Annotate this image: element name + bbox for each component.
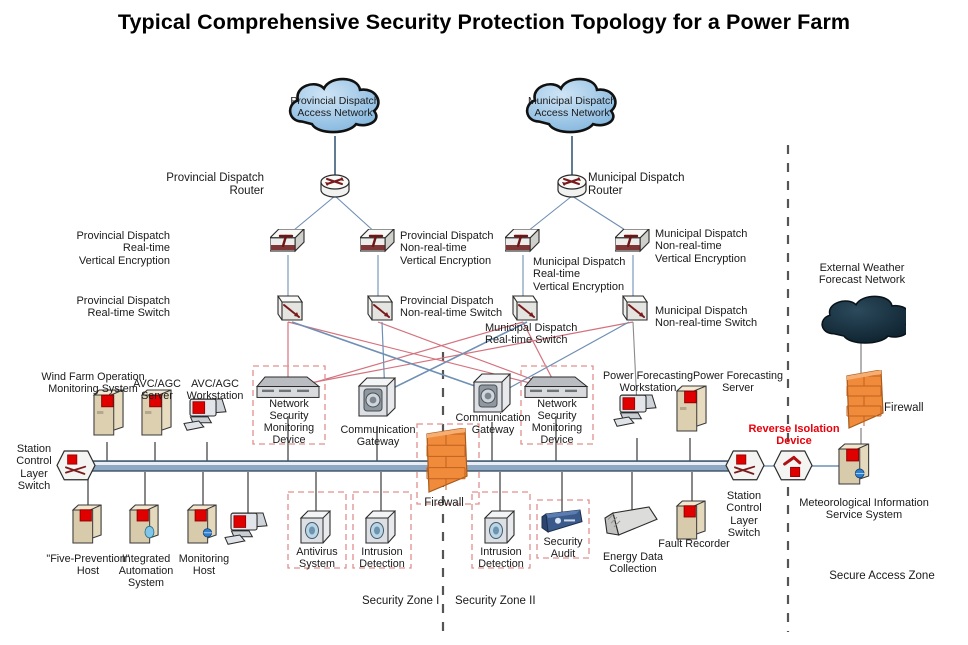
device-label-security-audit: Security Audit (532, 536, 594, 560)
reverse-isolation-device[interactable] (772, 449, 814, 482)
label-reverse-isolation: Reverse Isolation Device (740, 423, 848, 448)
enc-label-municipal-realtime-vertical-encryption: Municipal Dispatch Real-time Vertical En… (533, 256, 659, 293)
provincial-realtime-vertical-encryption[interactable] (270, 229, 306, 257)
security-zone-1-label: Security Zone I (362, 595, 439, 607)
energy-data-collection[interactable] (603, 505, 661, 539)
provincial-nonrealtime-switch[interactable] (362, 292, 394, 324)
device-label-power-forecasting-server: Power Forecasting Server (672, 370, 804, 394)
label-firewall-main: Firewall (418, 497, 470, 510)
cloud-label-provincial-dispatch-access-network: Provincial Dispatch Access Network (279, 96, 391, 120)
municipal-dispatch-router[interactable] (555, 174, 589, 198)
device-label-antivirus-system: Antivirus System (282, 546, 352, 570)
wind-farm-operation-monitoring-system[interactable] (90, 389, 125, 439)
firewall-secure-zone[interactable] (841, 370, 885, 430)
enc-label-municipal-nonrealtime-vertical-encryption: Municipal Dispatch Non-real-time Vertica… (655, 228, 781, 265)
external-weather-forecast-network (816, 292, 906, 350)
router-label-municipal-dispatch-router: Municipal Dispatch Router (588, 172, 698, 198)
communication-gateway-2[interactable] (470, 372, 514, 416)
five-prevention-host[interactable] (70, 504, 106, 548)
firewall-main[interactable] (421, 428, 469, 494)
label-station-switch-right: Station Control Layer Switch (716, 490, 772, 539)
router-label-provincial-dispatch-router: Provincial Dispatch Router (154, 172, 264, 198)
label-firewall-secure: Firewall (884, 402, 936, 415)
device-label-network-security-monitoring-device-1: Network Security Monitoring Device (255, 398, 323, 446)
device-label-monitoring-host: Monitoring Host (163, 553, 245, 577)
device-label-intrusion-detection-1: Intrusion Detection (347, 546, 417, 570)
intrusion-detection-2[interactable] (482, 509, 518, 547)
monitoring-host[interactable] (185, 504, 221, 548)
provincial-realtime-switch[interactable] (272, 292, 304, 324)
dsw-label-municipal-realtime-switch: Municipal Dispatch Real-time Switch (485, 322, 617, 347)
municipal-nonrealtime-switch[interactable] (617, 292, 649, 324)
provincial-nonrealtime-vertical-encryption[interactable] (360, 229, 396, 257)
station-control-bus (80, 461, 760, 471)
provincial-dispatch-router[interactable] (318, 174, 352, 198)
device-label-communication-gateway-1: Communication Gateway (333, 424, 423, 448)
antivirus-system[interactable] (298, 509, 334, 547)
topology-diagram: Typical Comprehensive Security Protectio… (0, 0, 968, 645)
device-label-intrusion-detection-2: Intrusion Detection (466, 546, 536, 570)
device-label-fault-recorder: Fault Recorder (648, 538, 740, 550)
municipal-realtime-vertical-encryption[interactable] (505, 229, 541, 257)
operator-workstation[interactable] (223, 509, 273, 548)
power-forecasting-workstation[interactable] (612, 391, 662, 430)
integrated-automation-system[interactable] (127, 504, 163, 548)
device-label-energy-data-collection: Energy Data Collection (592, 551, 674, 575)
municipal-nonrealtime-vertical-encryption[interactable] (615, 229, 651, 257)
station-control-layer-switch-left[interactable] (55, 449, 97, 482)
label-met-service: Meteorological Information Service Syste… (790, 497, 938, 522)
cloud-label-municipal-dispatch-access-network: Municipal Dispatch Access Network (516, 96, 628, 120)
device-label-avc-agc-workstation: AVC/AGC Workstation (172, 378, 258, 402)
label-station-switch-left: Station Control Layer Switch (8, 443, 60, 492)
intrusion-detection-1[interactable] (363, 509, 399, 547)
enc-label-provincial-realtime-vertical-encryption: Provincial Dispatch Real-time Vertical E… (44, 230, 170, 267)
station-control-layer-switch-right[interactable] (724, 449, 766, 482)
communication-gateway-1[interactable] (355, 376, 399, 420)
security-zone-2-label: Security Zone II (455, 595, 536, 607)
security-audit[interactable] (540, 508, 584, 536)
municipal-realtime-switch[interactable] (507, 292, 539, 324)
dsw-label-provincial-realtime-switch: Provincial Dispatch Real-time Switch (38, 295, 170, 320)
meteorological-information-service-system[interactable] (836, 443, 874, 489)
device-label-network-security-monitoring-device-2: Network Security Monitoring Device (523, 398, 591, 446)
dsw-label-municipal-nonrealtime-switch: Municipal Dispatch Non-real-time Switch (655, 305, 787, 330)
label-weather-cloud: External Weather Forecast Network (801, 262, 923, 287)
label-secure-access-zone: Secure Access Zone (822, 570, 942, 583)
